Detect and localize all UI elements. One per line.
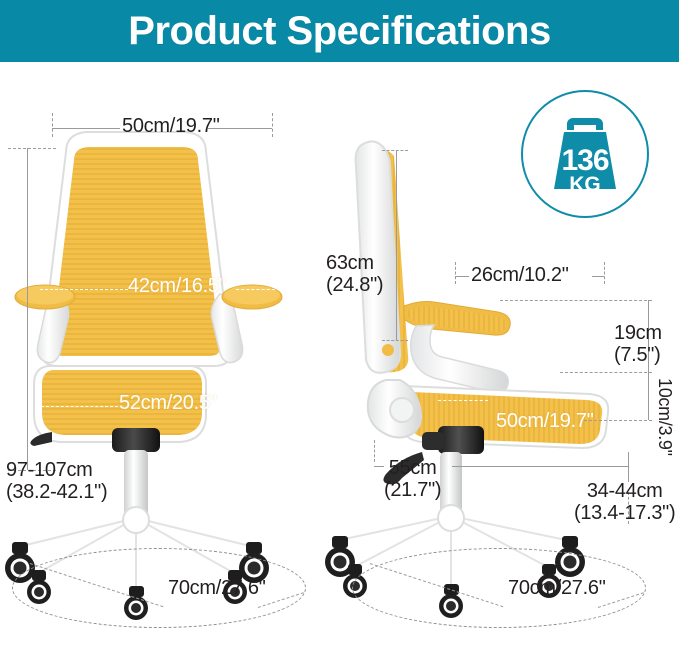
leader-tick xyxy=(604,262,605,284)
page-header: Product Specifications xyxy=(0,0,679,62)
leader-tick xyxy=(272,113,273,137)
leader-line xyxy=(374,466,384,467)
leader-line xyxy=(382,340,408,341)
leader-line xyxy=(382,150,408,151)
dimension-backrest-inner: 42cm/16.5" xyxy=(128,276,226,297)
page-title: Product Specifications xyxy=(128,11,550,51)
dimension-backrest-width: 50cm/19.7" xyxy=(122,116,220,137)
leader-line xyxy=(592,276,604,277)
dimension-seat-height: 34-44cm (13.4-17.3") xyxy=(574,480,675,525)
leader-line xyxy=(40,289,128,290)
leader-tick xyxy=(52,113,53,137)
leader-line xyxy=(236,289,280,290)
dimension-seat-to-front-line2: (21.7") xyxy=(384,479,441,501)
leader-line xyxy=(628,452,629,482)
leader-line xyxy=(560,372,652,373)
leader-line xyxy=(438,400,488,401)
dimension-overall-height: 97-107cm (38.2-42.1") xyxy=(6,459,107,504)
dimension-base-diameter-side: 70cm/27.6" xyxy=(508,578,606,599)
dimension-armrest-height: 19cm (7.5") xyxy=(614,322,662,367)
leader-line xyxy=(27,148,28,470)
dimension-backrest-height: 63cm (24.8") xyxy=(326,252,383,297)
dimension-overall-height-line1: 97-107cm xyxy=(6,459,107,481)
dimension-base-diameter-front: 70cm/27.6" xyxy=(168,578,266,599)
leader-line xyxy=(455,276,469,277)
dimension-armrest-height-line2: (7.5") xyxy=(614,344,662,366)
leader-line xyxy=(500,300,652,301)
dimension-overall-height-line2: (38.2-42.1") xyxy=(6,481,107,503)
leader-tick xyxy=(455,262,456,284)
dimension-backrest-height-line2: (24.8") xyxy=(326,274,383,296)
dimension-armrest-length: 26cm/10.2" xyxy=(471,265,569,286)
leader-line xyxy=(452,466,628,467)
dimension-backrest-height-line1: 63cm xyxy=(326,252,383,274)
leader-line xyxy=(396,150,397,340)
leader-line xyxy=(36,406,118,407)
dimension-seat-to-front: 55cm (21.7") xyxy=(384,457,441,502)
dimension-seat-width: 52cm/20.5" xyxy=(119,393,217,414)
dimension-seat-height-line2: (13.4-17.3") xyxy=(574,502,675,524)
dimension-seat-to-front-line1: 55cm xyxy=(384,457,441,479)
specification-sheet: Product Specifications 136 KG xyxy=(0,0,679,656)
dimension-seat-depth: 50cm/19.7" xyxy=(496,411,594,432)
dimension-seat-height-line1: 34-44cm xyxy=(574,480,675,502)
dimension-armrest-travel: 10cm/3.9" xyxy=(655,378,674,456)
leader-line xyxy=(584,420,652,421)
leader-line xyxy=(8,148,56,149)
leader-tick xyxy=(374,440,375,462)
leader-line xyxy=(228,406,286,407)
leader-line xyxy=(52,128,120,129)
dimension-armrest-height-line1: 19cm xyxy=(614,322,662,344)
